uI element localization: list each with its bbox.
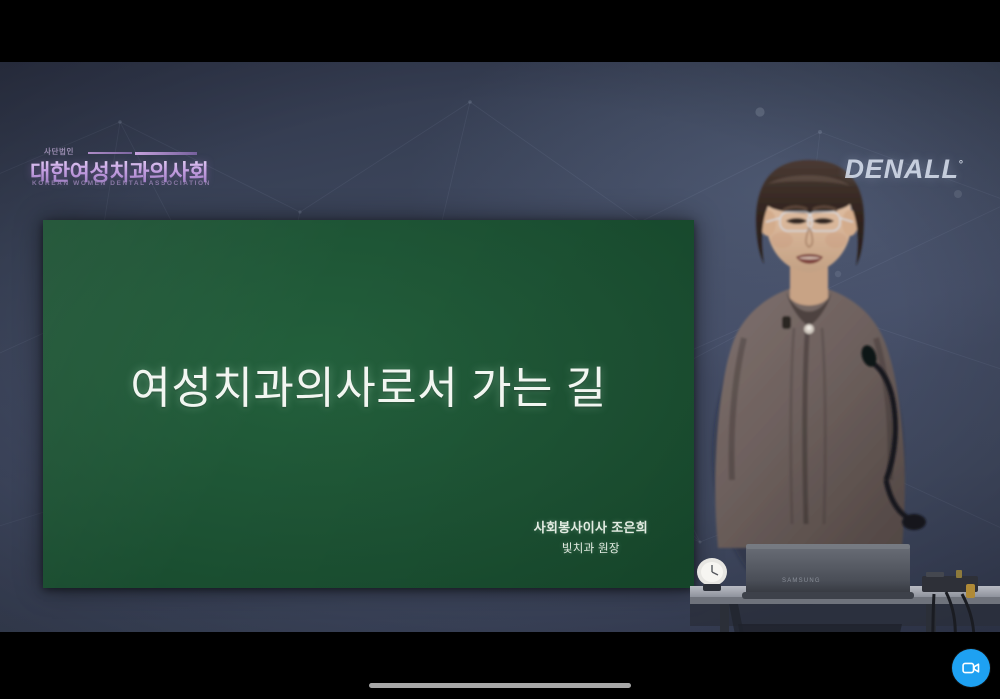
svg-text:SAMSUNG: SAMSUNG	[782, 578, 821, 584]
slide-title: 여성치과의사로서 가는 길	[43, 352, 694, 416]
denall-logo: DENALL°	[845, 154, 965, 185]
laptop: SAMSUNG	[742, 544, 914, 599]
slide-credit-affiliation: 빛치과 원장	[534, 540, 648, 556]
page-title: 여성치과의사로서 가는 길 — 강연 영상	[0, 21, 1, 22]
video-player-screen: 여성치과의사로서 가는 길 — 강연 영상	[0, 0, 1000, 699]
home-indicator[interactable]	[369, 683, 631, 688]
denall-logo-name: DENALL	[845, 154, 959, 184]
projected-slide: 여성치과의사로서 가는 길 사회봉사이사 조은희 빛치과 원장	[43, 220, 694, 588]
slide-credit: 사회봉사이사 조은희 빛치과 원장	[534, 517, 648, 556]
kwda-logo-rule-left	[88, 152, 132, 154]
video-surface[interactable]: 사단법인 대한여성치과의사회 KOREAN WOMEN DENTAL ASSOC…	[0, 62, 1000, 632]
kwda-logo: 사단법인 대한여성치과의사회 KOREAN WOMEN DENTAL ASSOC…	[30, 146, 198, 192]
denall-logo-mark: °	[959, 159, 964, 171]
video-call-button[interactable]	[952, 649, 990, 687]
video-camera-icon	[961, 658, 981, 678]
kwda-logo-subtitle: KOREAN WOMEN DENTAL ASSOCIATION	[32, 180, 211, 187]
slide-credit-name: 사회봉사이사 조은희	[534, 517, 648, 536]
podium-desk: SAMSUNG	[690, 544, 1000, 632]
presenter-area: SAMSUNG	[690, 124, 1000, 632]
bottom-chrome	[0, 632, 1000, 699]
